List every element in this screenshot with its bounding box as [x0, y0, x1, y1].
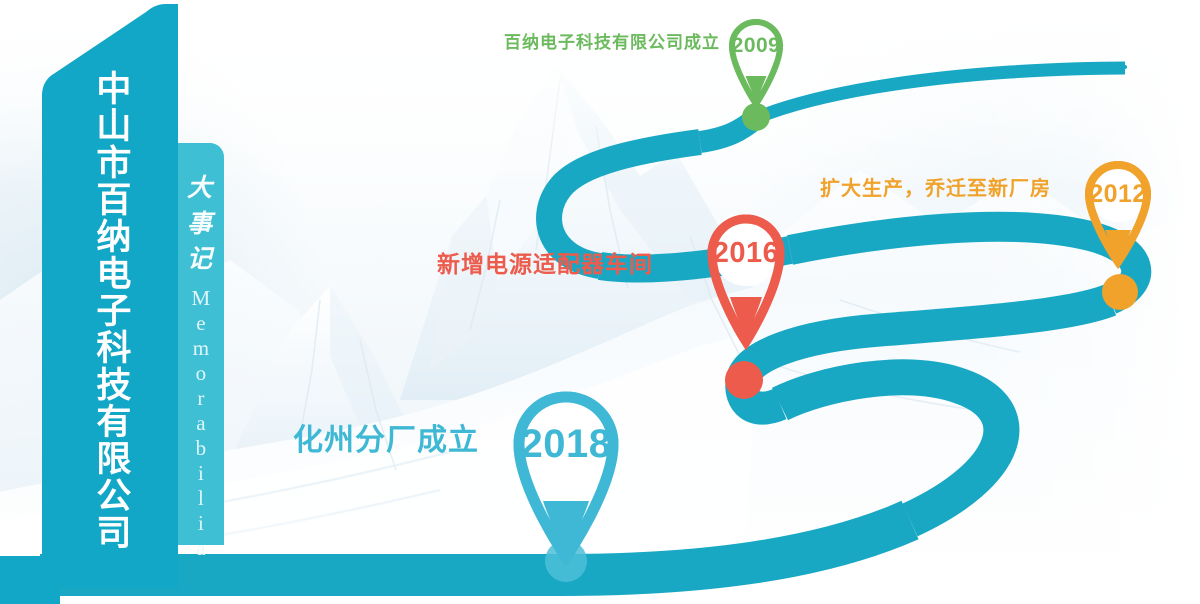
milestone-pin-2009[interactable]: 2009: [723, 10, 789, 106]
milestone-pin-2018[interactable]: 2018: [507, 381, 625, 561]
milestone-label-2016: 新增电源适配器车间: [437, 245, 653, 279]
milestone-label-2009: 百纳电子科技有限公司成立: [504, 28, 720, 53]
milestone-pin-2012[interactable]: 2012: [1079, 152, 1157, 264]
milestone-label-2012: 扩大生产，乔迁至新厂房: [820, 172, 1051, 201]
timeline-infographic: 大事记 Memorabilia 中山市百纳电子科技有限公司 2009 百纳电子科…: [0, 0, 1200, 604]
milestone-pin-2016[interactable]: 2016: [703, 205, 789, 345]
memorabilia-side-panel-text: 大事记 Memorabilia: [176, 143, 224, 545]
section-title-cn: 大事记: [176, 171, 224, 278]
milestone-label-2018: 化州分厂成立: [293, 415, 479, 459]
section-title-en: Memorabilia: [186, 286, 214, 561]
company-banner-shape: [42, 0, 178, 588]
